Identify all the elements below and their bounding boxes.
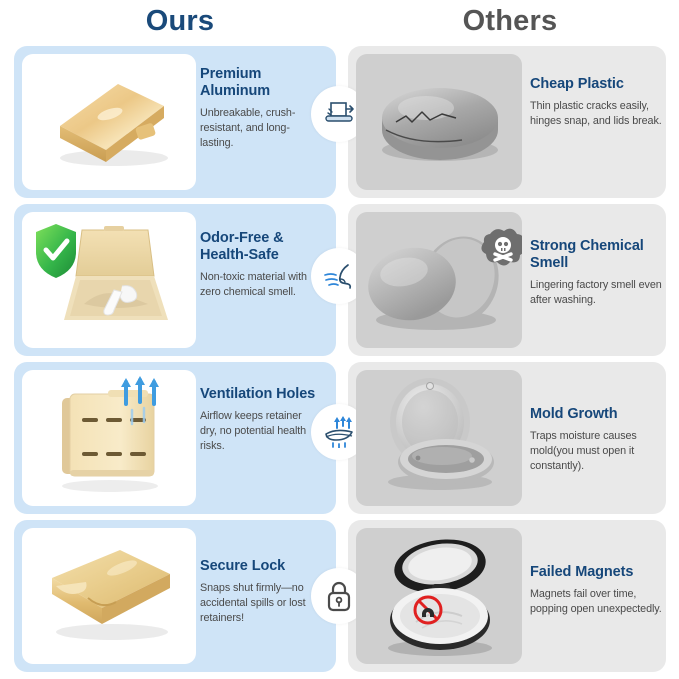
comparison-infographic: Ours Others xyxy=(0,0,679,679)
gray-plastic-case-cracked-icon xyxy=(356,54,522,190)
comparison-row: Odor-Free & Health-Safe Non-toxic materi… xyxy=(0,204,679,356)
others-heading: Mold Growth xyxy=(530,406,672,423)
nose-smell-icon xyxy=(322,261,356,291)
gray-cases-with-toxic-skull-cloud-icon xyxy=(356,212,522,348)
padlock-icon xyxy=(325,580,353,612)
others-product-image xyxy=(356,370,522,506)
ours-text-block: Secure Lock Snaps shut firmly—no acciden… xyxy=(200,558,320,626)
others-description: Magnets fail over time, popping open une… xyxy=(530,587,672,617)
others-text-block: Mold Growth Traps moisture causes mold(y… xyxy=(530,406,672,474)
durable-crush-resistant-icon xyxy=(322,99,356,129)
others-heading: Failed Magnets xyxy=(530,564,672,581)
ours-text-block: Ventilation Holes Airflow keeps retainer… xyxy=(200,386,320,454)
comparison-row: Secure Lock Snaps shut firmly—no acciden… xyxy=(0,520,679,672)
others-text-block: Strong Chemical Smell Lingering factory … xyxy=(530,238,672,308)
ours-column-title: Ours xyxy=(0,5,360,38)
black-white-case-with-no-magnet-symbol-icon xyxy=(356,528,522,664)
ours-heading: Ventilation Holes xyxy=(200,386,320,403)
ours-text-block: Odor-Free & Health-Safe Non-toxic materi… xyxy=(200,230,320,300)
gold-aluminum-case-closed-icon xyxy=(22,54,196,190)
ours-text-block: Premium Aluminum Unbreakable, crush-resi… xyxy=(200,66,320,151)
comparison-row: Premium Aluminum Unbreakable, crush-resi… xyxy=(0,46,679,198)
ours-heading: Premium Aluminum xyxy=(200,66,320,100)
comparison-row: Ventilation Holes Airflow keeps retainer… xyxy=(0,362,679,514)
ours-product-image xyxy=(22,54,196,190)
others-product-image xyxy=(356,212,522,348)
others-description: Lingering factory smell even after washi… xyxy=(530,278,672,308)
others-description: Traps moisture causes mold(you must open… xyxy=(530,429,672,474)
others-heading: Cheap Plastic xyxy=(530,76,672,93)
ours-product-image xyxy=(22,528,196,664)
others-product-image xyxy=(356,528,522,664)
others-heading: Strong Chemical Smell xyxy=(530,238,672,272)
ours-description: Airflow keeps retainer dry, no potential… xyxy=(200,409,320,454)
ours-description: Snaps shut firmly—no accidental spills o… xyxy=(200,581,320,626)
others-description: Thin plastic cracks easily, hinges snap,… xyxy=(530,99,672,129)
gold-case-with-secure-lip-lock-icon xyxy=(22,528,196,664)
ours-product-image xyxy=(22,212,196,348)
header-row: Ours Others xyxy=(0,0,679,46)
ours-heading: Odor-Free & Health-Safe xyxy=(200,230,320,264)
gray-clamshell-case-open-icon xyxy=(356,370,522,506)
ours-description: Non-toxic material with zero chemical sm… xyxy=(200,270,320,300)
others-column-title: Others xyxy=(340,5,679,38)
airflow-ventilation-icon xyxy=(321,416,357,448)
others-text-block: Cheap Plastic Thin plastic cracks easily… xyxy=(530,76,672,129)
gold-case-open-with-retainer-and-shield-icon xyxy=(22,212,196,348)
ours-description: Unbreakable, crush-resistant, and long-l… xyxy=(200,106,320,151)
others-text-block: Failed Magnets Magnets fail over time, p… xyxy=(530,564,672,617)
gold-case-with-vent-slots-and-airflow-arrows-icon xyxy=(22,370,196,506)
ours-product-image xyxy=(22,370,196,506)
ours-heading: Secure Lock xyxy=(200,558,320,575)
others-product-image xyxy=(356,54,522,190)
